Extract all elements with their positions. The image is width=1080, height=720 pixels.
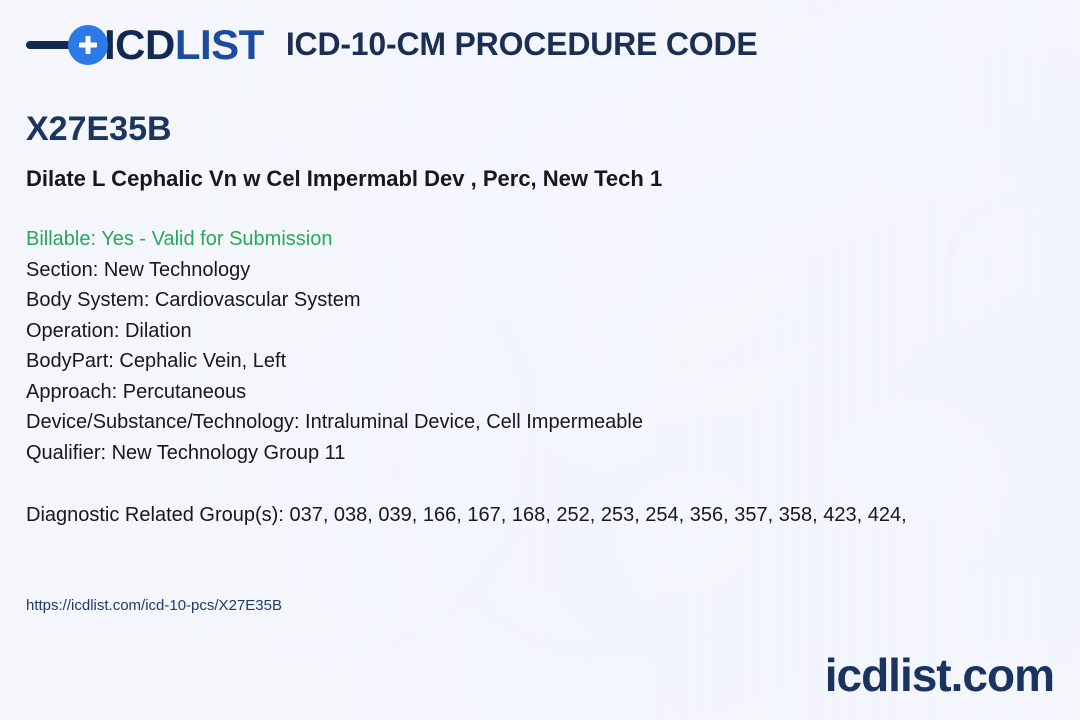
icdlist-logo[interactable]: ICD LIST xyxy=(26,24,264,66)
detail-body-system: Body System: Cardiovascular System xyxy=(26,285,1080,316)
detail-list: Billable: Yes - Valid for Submission Sec… xyxy=(26,224,1080,468)
plus-circle-icon xyxy=(68,25,108,65)
procedure-description: Dilate L Cephalic Vn w Cel Impermabl Dev… xyxy=(26,166,662,192)
dash-icon xyxy=(26,41,72,49)
card-content: ICD LIST ICD-10-CM PROCEDURE CODE X27E35… xyxy=(0,0,1080,720)
page-title: ICD-10-CM PROCEDURE CODE xyxy=(286,28,758,62)
header: ICD LIST ICD-10-CM PROCEDURE CODE xyxy=(26,24,758,66)
site-watermark: icdlist.com xyxy=(825,652,1054,698)
detail-qualifier: Qualifier: New Technology Group 11 xyxy=(26,438,1080,469)
detail-device-substance-technology: Device/Substance/Technology: Intralumina… xyxy=(26,407,1080,438)
detail-section: Section: New Technology xyxy=(26,255,1080,286)
detail-billable: Billable: Yes - Valid for Submission xyxy=(26,224,1080,255)
icd-code-card: ICD LIST ICD-10-CM PROCEDURE CODE X27E35… xyxy=(0,0,1080,720)
logo-text-icd: ICD xyxy=(104,24,175,66)
diagnostic-related-groups: Diagnostic Related Group(s): 037, 038, 0… xyxy=(26,502,1080,528)
detail-approach: Approach: Percutaneous xyxy=(26,377,1080,408)
detail-body-part: BodyPart: Cephalic Vein, Left xyxy=(26,346,1080,377)
procedure-code: X27E35B xyxy=(26,112,172,146)
detail-operation: Operation: Dilation xyxy=(26,316,1080,347)
source-url[interactable]: https://icdlist.com/icd-10-pcs/X27E35B xyxy=(26,597,282,615)
logo-text-list: LIST xyxy=(175,24,264,66)
